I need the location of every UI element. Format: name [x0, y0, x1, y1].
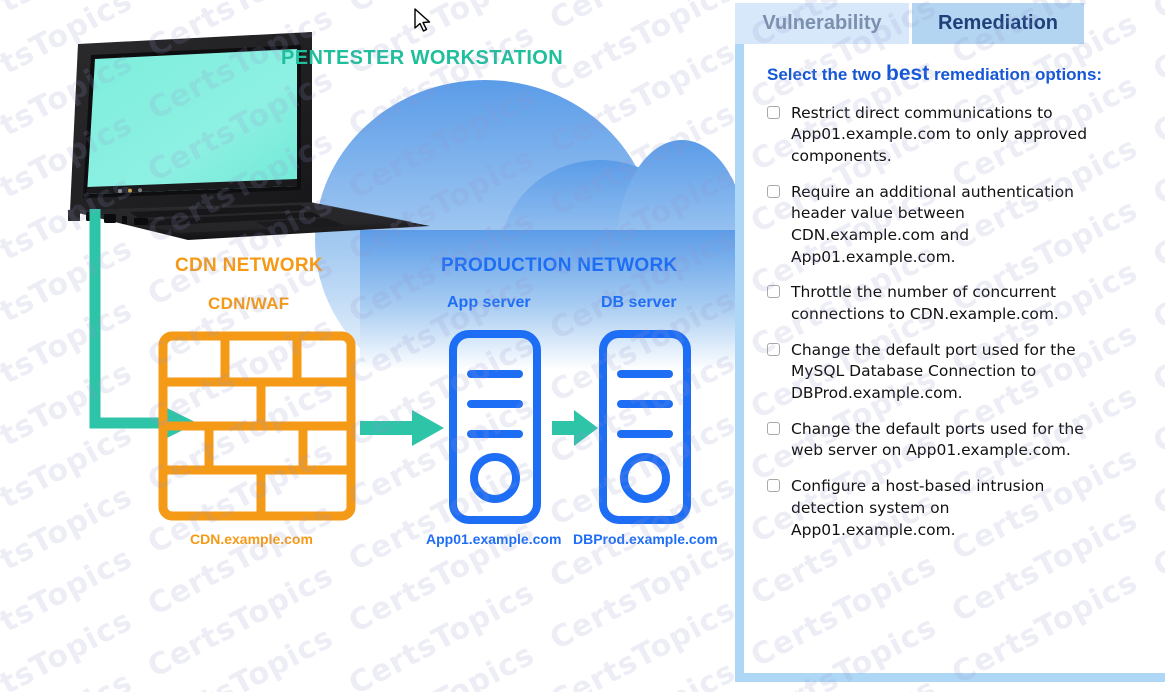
list-item[interactable]: Require an additional authentication hea… — [764, 182, 1147, 269]
option-label-1: Restrict direct communications to App01.… — [791, 103, 1091, 168]
db-server-label: DB server — [601, 294, 677, 312]
cdn-network-label: CDN NETWORK — [175, 255, 323, 277]
checkbox-option-6[interactable] — [767, 479, 780, 492]
question-heading-part2: remediation options: — [929, 65, 1102, 84]
option-label-6: Configure a host-based intrusion detecti… — [791, 476, 1091, 541]
network-diagram: PENTESTER WORKSTATION CDN NETWORK CDN/WA… — [0, 0, 735, 692]
question-heading-emphasis: best — [886, 62, 929, 85]
remediation-panel: Vulnerability Remediation Select the two… — [735, 0, 1165, 692]
app-server-icon — [447, 328, 543, 526]
tab-remediation[interactable]: Remediation — [912, 3, 1084, 44]
cdn-waf-firewall-icon — [157, 330, 357, 522]
checkbox-option-1[interactable] — [767, 106, 780, 119]
checkbox-option-4[interactable] — [767, 343, 780, 356]
pentester-workstation-label: PENTESTER WORKSTATION — [281, 47, 563, 70]
checkbox-option-2[interactable] — [767, 185, 780, 198]
option-label-5: Change the default ports used for the we… — [791, 419, 1091, 462]
list-item[interactable]: Configure a host-based intrusion detecti… — [764, 476, 1147, 541]
question-heading-part1: Select the two — [767, 65, 886, 84]
question-heading: Select the two best remediation options: — [767, 58, 1147, 91]
tab-bar: Vulnerability Remediation — [735, 3, 1084, 44]
db-hostname-label: DBProd.example.com — [573, 531, 718, 547]
app-to-db-arrow-icon — [552, 408, 600, 448]
option-label-3: Throttle the number of concurrent connec… — [791, 282, 1091, 325]
cdn-to-app-arrow-icon — [360, 408, 446, 448]
tab-vulnerability[interactable]: Vulnerability — [735, 3, 909, 44]
option-label-2: Require an additional authentication hea… — [791, 182, 1091, 269]
list-item[interactable]: Change the default port used for the MyS… — [764, 340, 1147, 405]
checkbox-option-5[interactable] — [767, 422, 780, 435]
remediation-options-list: Restrict direct communications to App01.… — [764, 103, 1147, 542]
cdn-waf-label: CDN/WAF — [208, 294, 289, 314]
production-network-label: PRODUCTION NETWORK — [441, 255, 678, 277]
list-item[interactable]: Throttle the number of concurrent connec… — [764, 282, 1147, 325]
checkbox-option-3[interactable] — [767, 285, 780, 298]
panel-content: Select the two best remediation options:… — [744, 44, 1165, 664]
list-item[interactable]: Restrict direct communications to App01.… — [764, 103, 1147, 168]
app-hostname-label: App01.example.com — [426, 531, 561, 547]
option-label-4: Change the default port used for the MyS… — [791, 340, 1091, 405]
app-server-label: App server — [447, 294, 531, 312]
db-server-icon — [597, 328, 693, 526]
cdn-hostname-label: CDN.example.com — [190, 531, 313, 547]
mouse-cursor-icon — [413, 8, 433, 36]
list-item[interactable]: Change the default ports used for the we… — [764, 419, 1147, 462]
